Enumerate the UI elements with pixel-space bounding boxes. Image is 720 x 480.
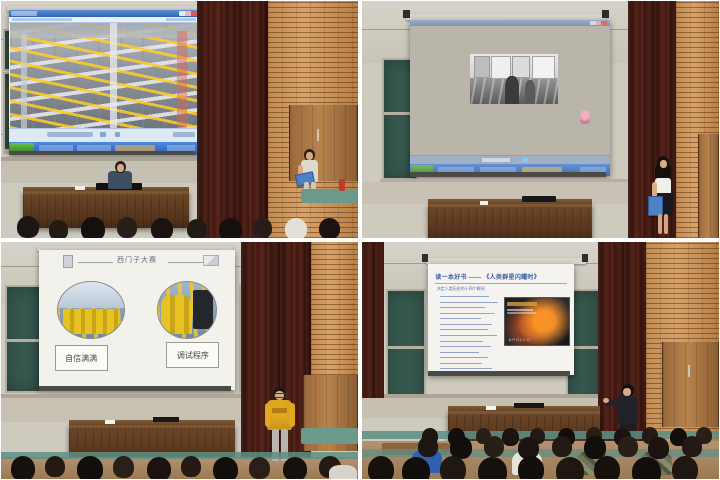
shirt-print [272, 408, 287, 413]
screen-bracket [582, 254, 588, 262]
screen-bottom-bar [410, 172, 606, 177]
projection-screen: 西门子大赛 自信满满 调试程序 [39, 250, 235, 390]
screen-bottom-bar [9, 151, 195, 155]
audience [1, 445, 358, 479]
paper [480, 201, 488, 205]
slide-photo-debug [157, 281, 218, 339]
laptop[interactable] [514, 403, 544, 408]
wood-slat-wall [311, 242, 358, 375]
traffic-video-frame [10, 23, 198, 129]
photo-collage: 西门子大赛 自信满满 调试程序 [0, 0, 720, 480]
wall-ledge [1, 161, 197, 183]
slide-title-underline [435, 283, 566, 284]
wall-ledge [1, 398, 263, 422]
screen-bracket [602, 10, 609, 18]
video-player-toolbar[interactable] [9, 128, 199, 142]
projection-screen: 读一本好书 —— 《人类群星闪耀时》 决定人类历史的十四个瞬间 [428, 264, 574, 375]
thermos [339, 179, 345, 191]
projection-screen [410, 20, 610, 176]
slide-book-cover: APOLLO [504, 297, 570, 346]
video-window-title [11, 11, 37, 16]
projection-screen-frame[interactable]: 读一本好书 —— 《人类群星闪耀时》 决定人类历史的十四个瞬间 [428, 264, 574, 375]
paper [75, 186, 85, 190]
panel-top-left[interactable] [1, 1, 358, 238]
slide-label-debugging: 调试程序 [166, 342, 219, 368]
pointing-hand [603, 398, 609, 403]
book-cover-caption: APOLLO [509, 337, 531, 342]
projection-screen-frame[interactable] [9, 10, 199, 155]
paper [105, 420, 115, 424]
panel-bottom-right[interactable]: 读一本好书 —— 《人类群星闪耀时》 决定人类历史的十四个瞬间 [362, 242, 719, 479]
seat-back [301, 428, 358, 444]
chalkboard [5, 285, 41, 393]
pause-button[interactable] [115, 132, 120, 137]
slide-title: 读一本好书 —— 《人类群星闪耀时》 [435, 272, 540, 281]
chalkboard [386, 289, 426, 407]
panel-top-right[interactable] [362, 1, 719, 238]
projection-screen-frame[interactable]: 西门子大赛 自信满满 调试程序 [39, 250, 235, 390]
projection-screen-frame[interactable] [410, 20, 610, 176]
door-handle[interactable] [317, 129, 319, 141]
hall-door[interactable] [662, 342, 719, 427]
glasses-icon [274, 393, 287, 398]
slide-label-confidence: 自信满满 [55, 345, 108, 371]
play-button[interactable] [100, 132, 106, 137]
stage-curtain [197, 1, 268, 238]
laptop[interactable] [153, 417, 179, 422]
video-progress-bar[interactable] [47, 132, 93, 137]
screen-bottom-bar [428, 371, 570, 376]
slide-siemens-competition: 西门子大赛 自信满满 调试程序 [39, 250, 235, 390]
seat-back [301, 189, 358, 203]
standing-student[interactable] [650, 156, 678, 238]
window-controls[interactable] [179, 11, 197, 16]
door-handle[interactable] [688, 365, 690, 377]
image-viewer-toolbar[interactable] [410, 155, 610, 164]
image-window-titlebar[interactable] [410, 20, 610, 26]
screen-bracket [403, 10, 410, 18]
slide-photo-team [57, 281, 126, 339]
stage-curtain [362, 242, 384, 413]
audience [1, 210, 358, 238]
window-controls[interactable] [590, 21, 607, 25]
screen-bracket [422, 254, 428, 262]
panel-bottom-left[interactable]: 西门子大赛 自信满满 调试程序 [1, 242, 358, 479]
projection-screen [9, 10, 199, 155]
podium[interactable] [428, 204, 592, 238]
slide-read-a-good-book: 读一本好书 —— 《人类群星闪耀时》 决定人类历史的十四个瞬间 [428, 264, 574, 375]
slide-subtitle: 决定人类历史的十四个瞬间 [437, 286, 485, 292]
paper [486, 406, 496, 410]
video-window-titlebar[interactable] [9, 10, 199, 17]
audience [362, 421, 719, 479]
seated-host[interactable] [105, 161, 135, 189]
hall-door[interactable] [698, 134, 719, 238]
screen-decoration [580, 110, 590, 124]
screen-bottom-bar [39, 386, 231, 391]
volume-slider[interactable] [173, 132, 195, 137]
slide-title: 西门子大赛 [39, 255, 235, 265]
slideshow-photo [470, 54, 558, 104]
laptop[interactable] [522, 196, 556, 202]
blue-folder[interactable] [648, 196, 663, 216]
